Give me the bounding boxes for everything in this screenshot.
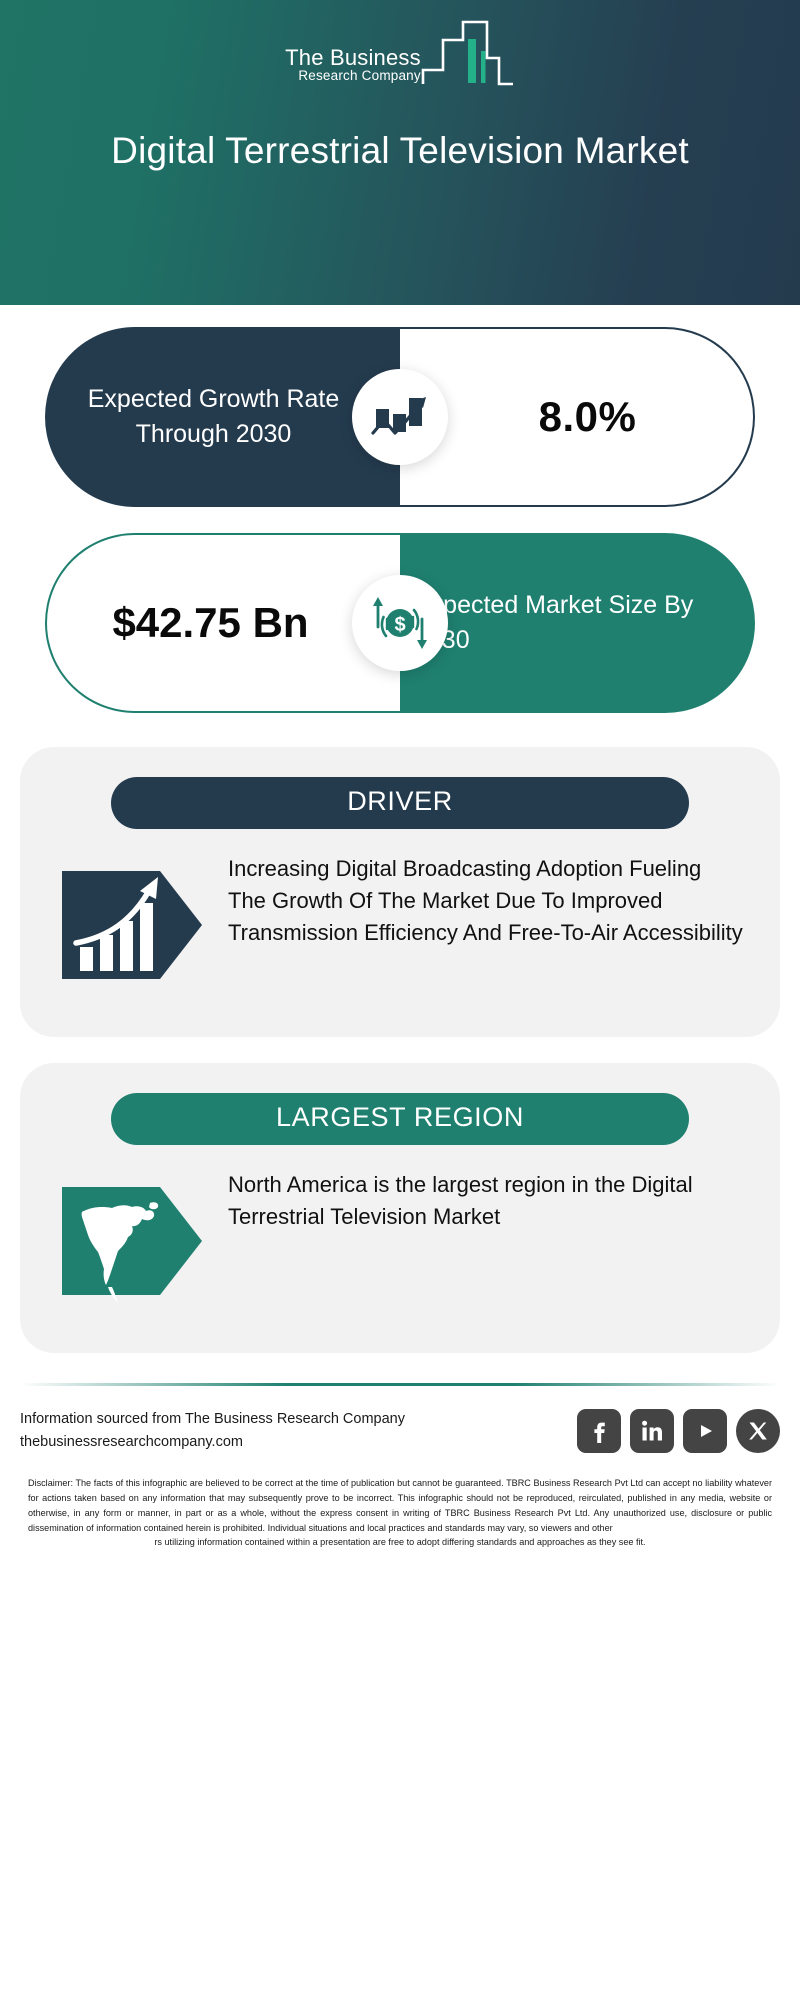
facebook-icon[interactable]	[577, 1409, 621, 1453]
stat-card-market-size: $42.75 Bn Expected Market Size By 2030 $	[45, 533, 755, 713]
stat-card-label-side: Expected Market Size By 2030	[400, 533, 755, 713]
stat-label: Expected Market Size By 2030	[400, 588, 755, 659]
social-links	[577, 1409, 780, 1453]
growth-chart-icon	[352, 369, 448, 465]
header-banner: The Business Research Company Digital Te…	[0, 0, 800, 305]
infographic-page: The Business Research Company Digital Te…	[0, 0, 800, 2000]
driver-text: Increasing Digital Broadcasting Adoption…	[228, 851, 744, 949]
stat-cards-section: Expected Growth Rate Through 2030 8.0% $…	[0, 305, 800, 713]
rising-bar-chart-icon	[62, 851, 210, 999]
stat-card-growth-rate: Expected Growth Rate Through 2030 8.0%	[45, 327, 755, 507]
youtube-icon[interactable]	[683, 1409, 727, 1453]
largest-region-text: North America is the largest region in t…	[228, 1167, 744, 1233]
disclaimer-main: Disclaimer: The facts of this infographi…	[28, 1478, 772, 1532]
source-line-2[interactable]: thebusinessresearchcompany.com	[20, 1431, 405, 1454]
source-line-1: Information sourced from The Business Re…	[20, 1408, 405, 1431]
largest-region-pill-label: LARGEST REGION	[111, 1093, 689, 1145]
disclaimer-last-line: rs utilizing information contained withi…	[28, 1535, 772, 1550]
footer-divider	[20, 1383, 780, 1386]
page-title: Digital Terrestrial Television Market	[50, 128, 750, 173]
logo-line-1: The Business	[285, 47, 421, 69]
source-info: Information sourced from The Business Re…	[20, 1408, 405, 1454]
linkedin-icon[interactable]	[630, 1409, 674, 1453]
logo-line-2: Research Company	[298, 69, 421, 83]
logo-text: The Business Research Company	[285, 47, 421, 101]
company-logo: The Business Research Company	[0, 18, 800, 101]
disclaimer: Disclaimer: The facts of this infographi…	[28, 1476, 772, 1550]
north-america-map-icon	[62, 1167, 210, 1315]
driver-panel: DRIVER Increasing Digital Broadcasting A…	[20, 747, 780, 1037]
driver-pill-label: DRIVER	[111, 777, 689, 829]
x-twitter-icon[interactable]	[736, 1409, 780, 1453]
dollar-circulation-icon: $	[352, 575, 448, 671]
svg-text:$: $	[394, 614, 405, 636]
stat-value: 8.0%	[517, 393, 637, 441]
logo-bar-chart-icon	[419, 18, 515, 95]
largest-region-panel: LARGEST REGION North America is the larg…	[20, 1063, 780, 1353]
stat-value: $42.75 Bn	[112, 597, 334, 648]
stat-card-value-side: 8.0%	[400, 327, 755, 507]
footer: Information sourced from The Business Re…	[20, 1408, 780, 1454]
stat-card-label-side: Expected Growth Rate Through 2030	[45, 327, 400, 507]
stat-label: Expected Growth Rate Through 2030	[45, 382, 400, 453]
stat-card-value-side: $42.75 Bn	[45, 533, 400, 713]
